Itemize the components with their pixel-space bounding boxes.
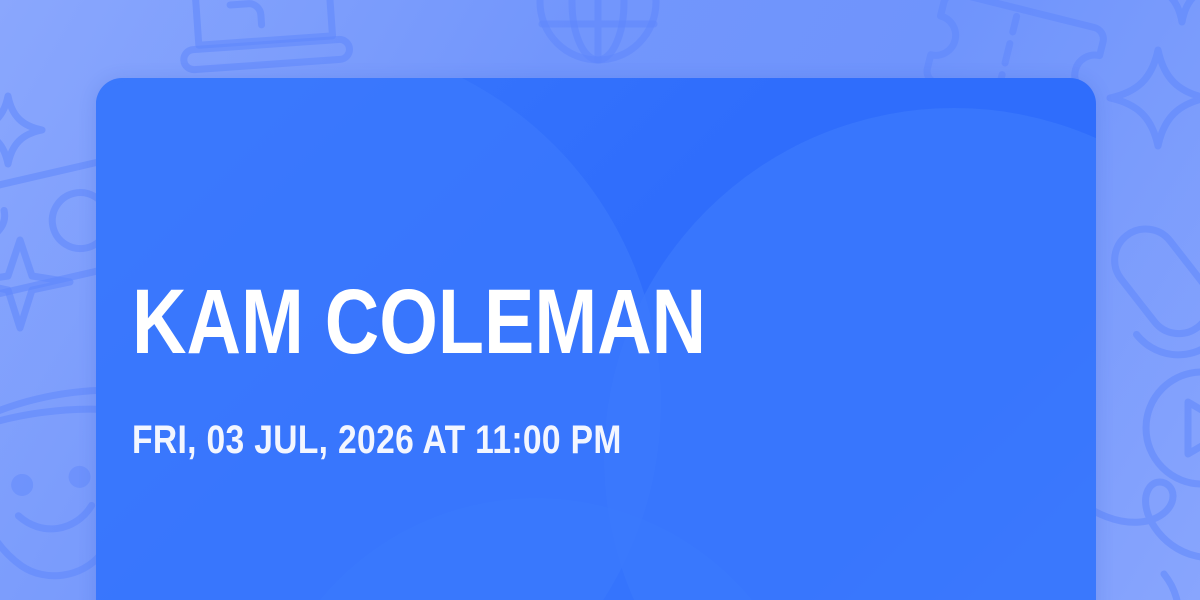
play-button-icon	[1146, 372, 1200, 484]
event-card-content: KAM COLEMAN FRI, 03 JUL, 2026 AT 11:00 P…	[132, 78, 1096, 600]
laptop-icon	[178, 0, 350, 70]
sparkle-icon	[1146, 0, 1200, 22]
event-title: KAM COLEMAN	[132, 274, 706, 370]
sparkle-icon	[0, 96, 42, 164]
event-banner: KAM COLEMAN FRI, 03 JUL, 2026 AT 11:00 P…	[0, 0, 1200, 600]
microphone-icon	[1085, 203, 1200, 409]
sparkle-icon	[1110, 50, 1200, 146]
globe-icon	[540, 0, 656, 60]
event-card[interactable]: KAM COLEMAN FRI, 03 JUL, 2026 AT 11:00 P…	[96, 78, 1096, 600]
star-burst-icon	[0, 240, 70, 328]
event-datetime: FRI, 03 JUL, 2026 AT 11:00 PM	[132, 418, 622, 462]
